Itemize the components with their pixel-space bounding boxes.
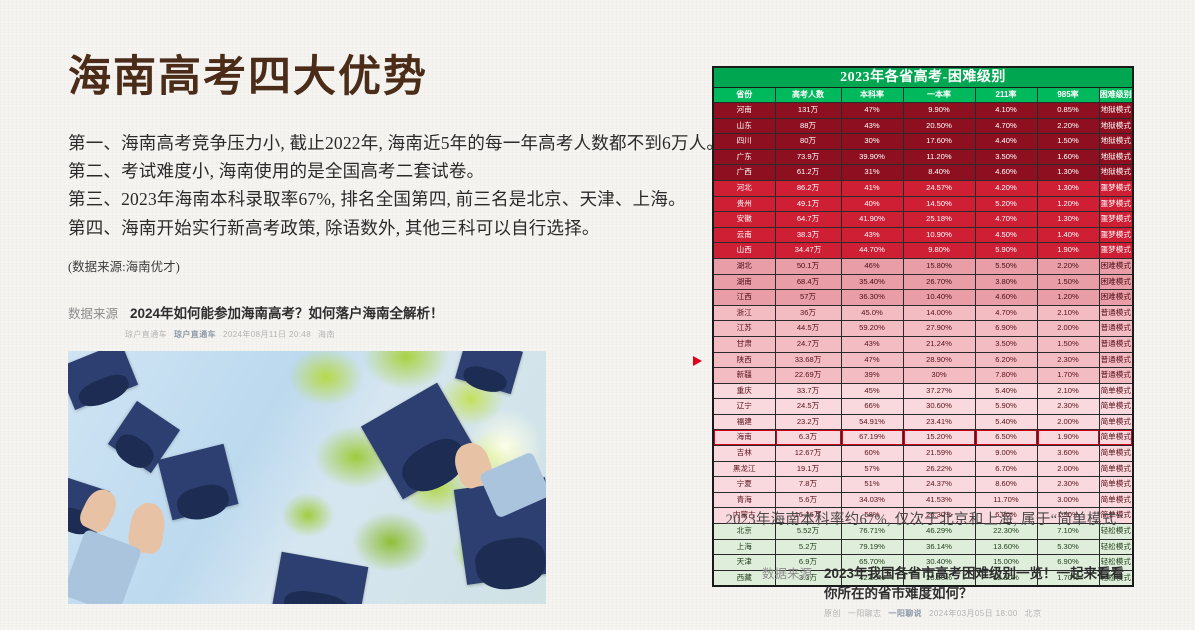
cell-province: 吉林: [713, 446, 775, 462]
highlight-row-pointer-icon: [693, 356, 702, 366]
table-row: 新疆22.69万39%30%7.80%1.70%普通模式: [713, 368, 1133, 384]
cell-level: 噩梦模式: [1099, 212, 1133, 228]
cell-bkrate: 41%: [841, 180, 903, 196]
cell-province: 河南: [713, 103, 775, 119]
cell-bkrate: 45.0%: [841, 305, 903, 321]
left-source-meta: 琼户直通车 琼户直通车 2024年08月11日 20:48 海南: [125, 329, 548, 340]
cell-985rate: 1.70%: [1037, 368, 1099, 384]
cell-count: 49.1万: [775, 196, 841, 212]
cell-211rate: 4.50%: [975, 227, 1037, 243]
cell-985rate: 2.20%: [1037, 118, 1099, 134]
cell-211rate: 4.60%: [975, 290, 1037, 306]
cell-level: 简单模式: [1099, 492, 1133, 508]
cell-211rate: 4.70%: [975, 118, 1037, 134]
cell-ybrate: 25.18%: [903, 212, 975, 228]
table-row: 湖北50.1万46%15.80%5.50%2.20%困难模式: [713, 258, 1133, 274]
cell-ybrate: 30.60%: [903, 399, 975, 415]
cell-bkrate: 47%: [841, 352, 903, 368]
cell-province: 湖南: [713, 274, 775, 290]
cell-level: 地狱模式: [1099, 134, 1133, 150]
table-row: 河北86.2万41%24.57%4.20%1.30%噩梦模式: [713, 180, 1133, 196]
cell-ybrate: 10.40%: [903, 290, 975, 306]
table-head: 2023年各省高考-困难级别 省份 高考人数 本科率 一本率 211率 985率…: [713, 67, 1133, 103]
cell-count: 7.8万: [775, 477, 841, 493]
cell-211rate: 11.70%: [975, 492, 1037, 508]
cell-level: 普通模式: [1099, 321, 1133, 337]
table-row: 海南6.3万67.19%15.20%6.50%1.90%简单模式: [713, 430, 1133, 446]
cell-bkrate: 47%: [841, 103, 903, 119]
cell-ybrate: 14.00%: [903, 305, 975, 321]
table-header-row: 省份 高考人数 本科率 一本率 211率 985率 困难级别: [713, 88, 1133, 103]
cell-count: 36万: [775, 305, 841, 321]
table-row: 黑龙江19.1万57%26.22%6.70%2.00%简单模式: [713, 461, 1133, 477]
cell-level: 噩梦模式: [1099, 180, 1133, 196]
cell-211rate: 4.70%: [975, 212, 1037, 228]
cell-bkrate: 51%: [841, 477, 903, 493]
cell-ybrate: 24.37%: [903, 477, 975, 493]
left-source-region: 海南: [318, 329, 335, 340]
right-source-author: 原创: [824, 608, 841, 619]
cell-ybrate: 17.60%: [903, 134, 975, 150]
cell-211rate: 6.70%: [975, 461, 1037, 477]
cell-bkrate: 35.40%: [841, 274, 903, 290]
col-header-211rate: 211率: [975, 88, 1037, 103]
left-source-row: 数据来源 2024年如何能参加海南高考？如何落户海南全解析！: [68, 303, 548, 324]
cell-211rate: 4.20%: [975, 180, 1037, 196]
table-row: 甘肃24.7万43%21.24%3.50%1.50%普通模式: [713, 336, 1133, 352]
cell-211rate: 3.50%: [975, 336, 1037, 352]
cell-count: 44.5万: [775, 321, 841, 337]
cell-level: 简单模式: [1099, 383, 1133, 399]
cell-ybrate: 21.24%: [903, 336, 975, 352]
table-caption: 2023年海南本科率约67%, 仅次于北京和上海, 属于“简单模式”: [712, 508, 1137, 529]
cell-985rate: 2.30%: [1037, 399, 1099, 415]
cell-211rate: 4.10%: [975, 103, 1037, 119]
left-source-account[interactable]: 琼户直通车: [174, 329, 216, 340]
cell-count: 61.2万: [775, 165, 841, 181]
cell-bkrate: 31%: [841, 165, 903, 181]
cell-985rate: 2.30%: [1037, 352, 1099, 368]
right-source-card[interactable]: 数据来源 2023年我国各省市高考困难级别一览！一起来看看你所在的省市难度如何？…: [762, 563, 1152, 619]
cell-bkrate: 54.91%: [841, 414, 903, 430]
cell-province: 山东: [713, 118, 775, 134]
cell-985rate: 1.50%: [1037, 274, 1099, 290]
cell-count: 5.2万: [775, 539, 841, 555]
cell-211rate: 4.60%: [975, 165, 1037, 181]
col-header-level: 困难级别: [1099, 88, 1133, 103]
cell-level: 普通模式: [1099, 305, 1133, 321]
cell-bkrate: 43%: [841, 118, 903, 134]
cell-province: 新疆: [713, 368, 775, 384]
cell-bkrate: 45%: [841, 383, 903, 399]
cell-bkrate: 46%: [841, 258, 903, 274]
cell-count: 131万: [775, 103, 841, 119]
cell-bkrate: 66%: [841, 399, 903, 415]
cell-level: 普通模式: [1099, 352, 1133, 368]
table-row: 河南131万47%9.90%4.10%0.85%地狱模式: [713, 103, 1133, 119]
cell-211rate: 6.20%: [975, 352, 1037, 368]
cell-211rate: 5.90%: [975, 399, 1037, 415]
cell-985rate: 1.50%: [1037, 336, 1099, 352]
table-row: 辽宁24.5万66%30.60%5.90%2.30%简单模式: [713, 399, 1133, 415]
cell-province: 云南: [713, 227, 775, 243]
cell-count: 24.7万: [775, 336, 841, 352]
cell-985rate: 2.20%: [1037, 258, 1099, 274]
cell-bkrate: 43%: [841, 227, 903, 243]
cell-count: 64.7万: [775, 212, 841, 228]
cell-ybrate: 14.50%: [903, 196, 975, 212]
table-title-row: 2023年各省高考-困难级别: [713, 67, 1133, 88]
cell-count: 19.1万: [775, 461, 841, 477]
cell-province: 宁夏: [713, 477, 775, 493]
cell-ybrate: 20.50%: [903, 118, 975, 134]
cell-province: 山西: [713, 243, 775, 259]
cell-province: 陕西: [713, 352, 775, 368]
cell-985rate: 3.00%: [1037, 492, 1099, 508]
cell-count: 6.3万: [775, 430, 841, 446]
table-row: 江苏44.5万59.20%27.90%6.90%2.00%普通模式: [713, 321, 1133, 337]
cell-211rate: 6.50%: [975, 430, 1037, 446]
cell-ybrate: 8.40%: [903, 165, 975, 181]
graduation-photo: [68, 351, 546, 604]
cell-level: 简单模式: [1099, 461, 1133, 477]
left-source-label: 数据来源: [68, 303, 118, 322]
cell-211rate: 3.50%: [975, 149, 1037, 165]
cell-province: 湖北: [713, 258, 775, 274]
cell-985rate: 1.40%: [1037, 227, 1099, 243]
cell-count: 86.2万: [775, 180, 841, 196]
cell-province: 重庆: [713, 383, 775, 399]
cell-ybrate: 15.20%: [903, 430, 975, 446]
cell-province: 江苏: [713, 321, 775, 337]
cell-level: 简单模式: [1099, 477, 1133, 493]
cell-level: 地狱模式: [1099, 165, 1133, 181]
table-row: 贵州49.1万40%14.50%5.20%1.20%噩梦模式: [713, 196, 1133, 212]
table-row: 云南38.3万43%10.90%4.50%1.40%噩梦模式: [713, 227, 1133, 243]
cell-level: 轻松模式: [1099, 539, 1133, 555]
cell-level: 简单模式: [1099, 446, 1133, 462]
cell-985rate: 1.20%: [1037, 290, 1099, 306]
cell-level: 噩梦模式: [1099, 196, 1133, 212]
table-row: 安徽64.7万41.90%25.18%4.70%1.30%噩梦模式: [713, 212, 1133, 228]
cell-bkrate: 39.90%: [841, 149, 903, 165]
cell-count: 5.6万: [775, 492, 841, 508]
cell-province: 广西: [713, 165, 775, 181]
cell-count: 38.3万: [775, 227, 841, 243]
advantage-list: 第一、海南高考竞争压力小, 截止2022年, 海南近5年的每一年高考人数都不到6…: [68, 129, 678, 242]
cell-ybrate: 37.27%: [903, 383, 975, 399]
cell-211rate: 5.50%: [975, 258, 1037, 274]
table-row: 山东88万43%20.50%4.70%2.20%地狱模式: [713, 118, 1133, 134]
cell-count: 34.47万: [775, 243, 841, 259]
table-row: 四川80万30%17.60%4.40%1.50%地狱模式: [713, 134, 1133, 150]
cell-bkrate: 34.03%: [841, 492, 903, 508]
table-row: 福建23.2万54.91%23.41%5.40%2.00%简单模式: [713, 414, 1133, 430]
table-row: 上海5.2万79.19%36.14%13.60%5.30%轻松模式: [713, 539, 1133, 555]
cell-level: 简单模式: [1099, 414, 1133, 430]
cell-ybrate: 36.14%: [903, 539, 975, 555]
col-header-province: 省份: [713, 88, 775, 103]
cell-bkrate: 36.30%: [841, 290, 903, 306]
cell-bkrate: 39%: [841, 368, 903, 384]
cell-211rate: 8.60%: [975, 477, 1037, 493]
cell-bkrate: 59.20%: [841, 321, 903, 337]
cell-province: 海南: [713, 430, 775, 446]
right-source-region: 北京: [1025, 608, 1042, 619]
cell-province: 上海: [713, 539, 775, 555]
left-source-author: 琼户直通车: [125, 329, 167, 340]
table-row: 湖南68.4万35.40%26.70%3.80%1.50%困难模式: [713, 274, 1133, 290]
cell-province: 四川: [713, 134, 775, 150]
cell-level: 噩梦模式: [1099, 227, 1133, 243]
cell-211rate: 7.80%: [975, 368, 1037, 384]
data-source-note: (数据来源:海南优才): [68, 256, 678, 275]
cell-985rate: 2.00%: [1037, 414, 1099, 430]
cell-ybrate: 9.90%: [903, 103, 975, 119]
right-source-row: 数据来源 2023年我国各省市高考困难级别一览！一起来看看你所在的省市难度如何？: [762, 563, 1152, 603]
table-row: 广东73.9万39.90%11.20%3.50%1.60%地狱模式: [713, 149, 1133, 165]
right-source-title[interactable]: 2023年我国各省市高考困难级别一览！一起来看看你所在的省市难度如何？: [824, 564, 1134, 603]
cell-ybrate: 11.20%: [903, 149, 975, 165]
cell-level: 困难模式: [1099, 290, 1133, 306]
cell-211rate: 9.00%: [975, 446, 1037, 462]
cell-ybrate: 27.90%: [903, 321, 975, 337]
cell-province: 辽宁: [713, 399, 775, 415]
cell-level: 地狱模式: [1099, 149, 1133, 165]
cell-211rate: 5.40%: [975, 383, 1037, 399]
right-source-account-1: 一阳聊志: [848, 608, 882, 619]
cell-bkrate: 67.19%: [841, 430, 903, 446]
cell-211rate: 6.90%: [975, 321, 1037, 337]
cell-count: 57万: [775, 290, 841, 306]
cell-985rate: 1.50%: [1037, 134, 1099, 150]
right-source-account-2[interactable]: 一阳聊说: [888, 608, 922, 619]
cell-count: 73.9万: [775, 149, 841, 165]
left-source-date: 2024年08月11日 20:48: [223, 329, 311, 340]
cell-province: 江西: [713, 290, 775, 306]
page-title: 海南高考四大优势: [68, 52, 678, 104]
advantage-item-3: 第三、2023年海南本科录取率67%, 排名全国第四, 前三名是北京、天津、上海…: [68, 185, 678, 213]
cell-count: 12.67万: [775, 446, 841, 462]
cell-bkrate: 40%: [841, 196, 903, 212]
table-row: 广西61.2万31%8.40%4.60%1.30%地狱模式: [713, 165, 1133, 181]
col-header-bkrate: 本科率: [841, 88, 903, 103]
cell-level: 地狱模式: [1099, 118, 1133, 134]
col-header-985rate: 985率: [1037, 88, 1099, 103]
cell-211rate: 5.40%: [975, 414, 1037, 430]
cell-985rate: 2.30%: [1037, 477, 1099, 493]
cell-211rate: 5.90%: [975, 243, 1037, 259]
cell-ybrate: 9.80%: [903, 243, 975, 259]
cell-province: 青海: [713, 492, 775, 508]
cell-bkrate: 30%: [841, 134, 903, 150]
cell-level: 普通模式: [1099, 336, 1133, 352]
cell-985rate: 5.30%: [1037, 539, 1099, 555]
left-source-title[interactable]: 2024年如何能参加海南高考？如何落户海南全解析！: [130, 304, 444, 324]
col-header-ybrate: 一本率: [903, 88, 975, 103]
advantage-item-2: 第二、考试难度小, 海南使用的是全国高考二套试卷。: [68, 157, 678, 185]
cell-level: 简单模式: [1099, 399, 1133, 415]
cell-count: 50.1万: [775, 258, 841, 274]
cell-985rate: 2.00%: [1037, 461, 1099, 477]
cell-ybrate: 24.57%: [903, 180, 975, 196]
cell-211rate: 4.70%: [975, 305, 1037, 321]
cell-province: 浙江: [713, 305, 775, 321]
cell-province: 贵州: [713, 196, 775, 212]
cell-985rate: 1.30%: [1037, 165, 1099, 181]
left-source-card[interactable]: 数据来源 2024年如何能参加海南高考？如何落户海南全解析！ 琼户直通车 琼户直…: [68, 303, 548, 340]
col-header-count: 高考人数: [775, 88, 841, 103]
cell-211rate: 4.40%: [975, 134, 1037, 150]
cell-985rate: 1.30%: [1037, 180, 1099, 196]
table-row: 山西34.47万44.70%9.80%5.90%1.90%噩梦模式: [713, 243, 1133, 259]
cell-level: 普通模式: [1099, 368, 1133, 384]
table-row: 重庆33.7万45%37.27%5.40%2.10%简单模式: [713, 383, 1133, 399]
cell-bkrate: 43%: [841, 336, 903, 352]
cell-province: 安徽: [713, 212, 775, 228]
cell-count: 24.5万: [775, 399, 841, 415]
cell-province: 黑龙江: [713, 461, 775, 477]
right-source-label: 数据来源: [762, 563, 812, 582]
right-source-date: 2024年03月05日 18:00: [929, 608, 1018, 619]
cell-bkrate: 60%: [841, 446, 903, 462]
cell-level: 噩梦模式: [1099, 243, 1133, 259]
cell-level: 困难模式: [1099, 258, 1133, 274]
cell-211rate: 5.20%: [975, 196, 1037, 212]
cell-211rate: 3.80%: [975, 274, 1037, 290]
cell-bkrate: 41.90%: [841, 212, 903, 228]
cell-985rate: 1.90%: [1037, 430, 1099, 446]
cell-985rate: 2.00%: [1037, 321, 1099, 337]
cell-count: 22.69万: [775, 368, 841, 384]
cell-ybrate: 28.90%: [903, 352, 975, 368]
cell-985rate: 1.20%: [1037, 196, 1099, 212]
table-row: 浙江36万45.0%14.00%4.70%2.10%普通模式: [713, 305, 1133, 321]
table-title: 2023年各省高考-困难级别: [713, 67, 1133, 88]
cell-count: 23.2万: [775, 414, 841, 430]
cell-count: 68.4万: [775, 274, 841, 290]
cell-985rate: 2.10%: [1037, 383, 1099, 399]
cell-985rate: 1.60%: [1037, 149, 1099, 165]
cell-ybrate: 15.80%: [903, 258, 975, 274]
cell-985rate: 2.10%: [1037, 305, 1099, 321]
cell-211rate: 13.60%: [975, 539, 1037, 555]
cell-ybrate: 10.90%: [903, 227, 975, 243]
table-row: 江西57万36.30%10.40%4.60%1.20%困难模式: [713, 290, 1133, 306]
cell-ybrate: 30%: [903, 368, 975, 384]
cell-ybrate: 21.59%: [903, 446, 975, 462]
table-row: 宁夏7.8万51%24.37%8.60%2.30%简单模式: [713, 477, 1133, 493]
cell-985rate: 1.90%: [1037, 243, 1099, 259]
cell-bkrate: 79.19%: [841, 539, 903, 555]
cell-province: 甘肃: [713, 336, 775, 352]
cell-level: 地狱模式: [1099, 103, 1133, 119]
cell-985rate: 0.85%: [1037, 103, 1099, 119]
cell-count: 33.7万: [775, 383, 841, 399]
cell-bkrate: 44.70%: [841, 243, 903, 259]
cell-bkrate: 57%: [841, 461, 903, 477]
left-content-column: 海南高考四大优势 第一、海南高考竞争压力小, 截止2022年, 海南近5年的每一…: [68, 52, 678, 275]
cell-ybrate: 26.22%: [903, 461, 975, 477]
cell-province: 河北: [713, 180, 775, 196]
cell-ybrate: 26.70%: [903, 274, 975, 290]
cell-level: 困难模式: [1099, 274, 1133, 290]
cell-count: 80万: [775, 134, 841, 150]
cell-count: 33.68万: [775, 352, 841, 368]
cell-province: 福建: [713, 414, 775, 430]
cell-count: 88万: [775, 118, 841, 134]
cell-level: 简单模式: [1099, 430, 1133, 446]
cell-ybrate: 41.53%: [903, 492, 975, 508]
advantage-item-1: 第一、海南高考竞争压力小, 截止2022年, 海南近5年的每一年高考人数都不到6…: [68, 129, 678, 157]
cell-ybrate: 23.41%: [903, 414, 975, 430]
advantage-item-4: 第四、海南开始实行新高考政策, 除语数外, 其他三科可以自行选择。: [68, 214, 678, 242]
cell-985rate: 3.60%: [1037, 446, 1099, 462]
cell-province: 广东: [713, 149, 775, 165]
table-row: 青海5.6万34.03%41.53%11.70%3.00%简单模式: [713, 492, 1133, 508]
cell-985rate: 1.30%: [1037, 212, 1099, 228]
table-row: 吉林12.67万60%21.59%9.00%3.60%简单模式: [713, 446, 1133, 462]
right-source-meta: 原创 一阳聊志 一阳聊说 2024年03月05日 18:00 北京: [824, 608, 1152, 619]
table-row: 陕西33.68万47%28.90%6.20%2.30%普通模式: [713, 352, 1133, 368]
